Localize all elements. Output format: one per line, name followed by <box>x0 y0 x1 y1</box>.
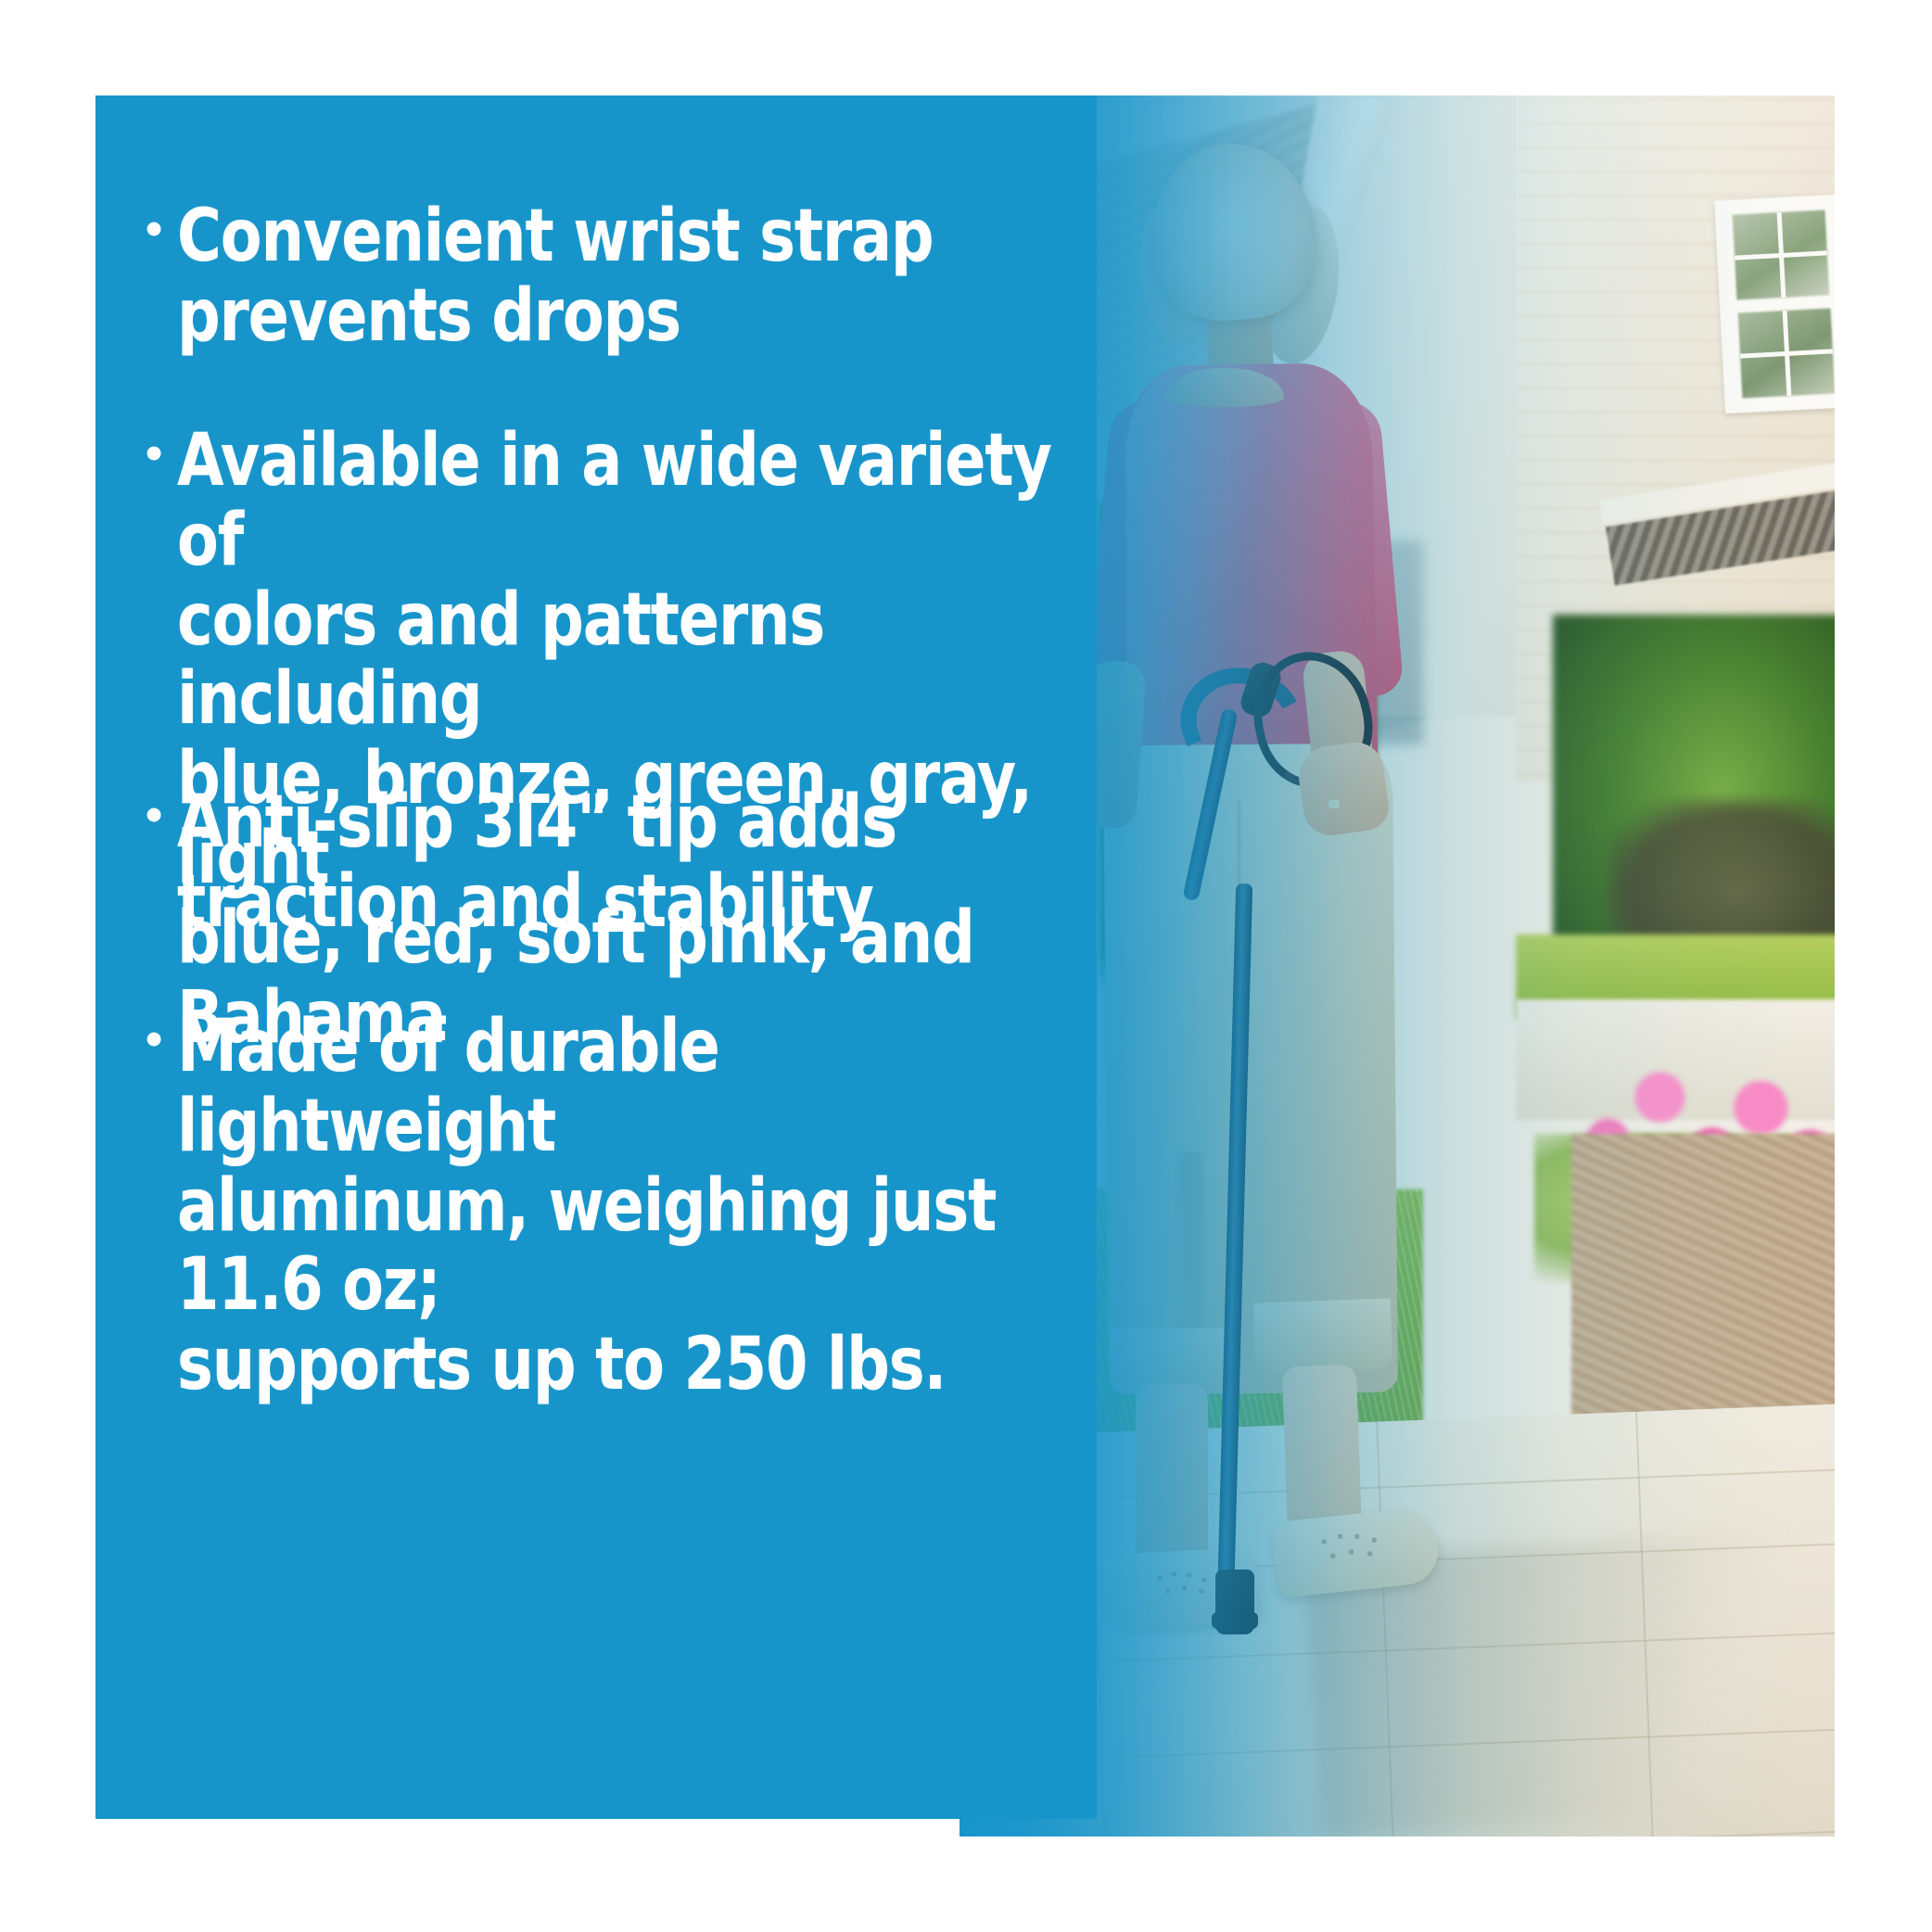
list-item: • Available in a wide variety of colors … <box>146 422 1128 1058</box>
bullet-dot-icon: • <box>146 427 177 479</box>
bullet-text: Convenient wrist strap prevents drops <box>177 197 934 357</box>
bullet-dot-icon: • <box>146 203 177 255</box>
list-item: • Convenient wrist strap prevents drops <box>146 197 1091 357</box>
list-item: • Anti-slip 3I4" tip adds traction and s… <box>146 783 1091 943</box>
bullet-dot-icon: • <box>146 1013 177 1065</box>
list-item: • Made of durable lightweight aluminum, … <box>146 1008 1128 1405</box>
bullet-dot-icon: • <box>146 789 177 841</box>
bullet-text: Available in a wide variety of colors an… <box>177 422 1061 1058</box>
bullet-text: Made of durable lightweight aluminum, we… <box>177 1008 1061 1405</box>
promo-feature-card: • Convenient wrist strap prevents drops … <box>0 0 1932 1932</box>
feature-bullet-list: • Convenient wrist strap prevents drops … <box>95 95 1115 1819</box>
bullet-text: Anti-slip 3I4" tip adds traction and sta… <box>177 783 896 943</box>
